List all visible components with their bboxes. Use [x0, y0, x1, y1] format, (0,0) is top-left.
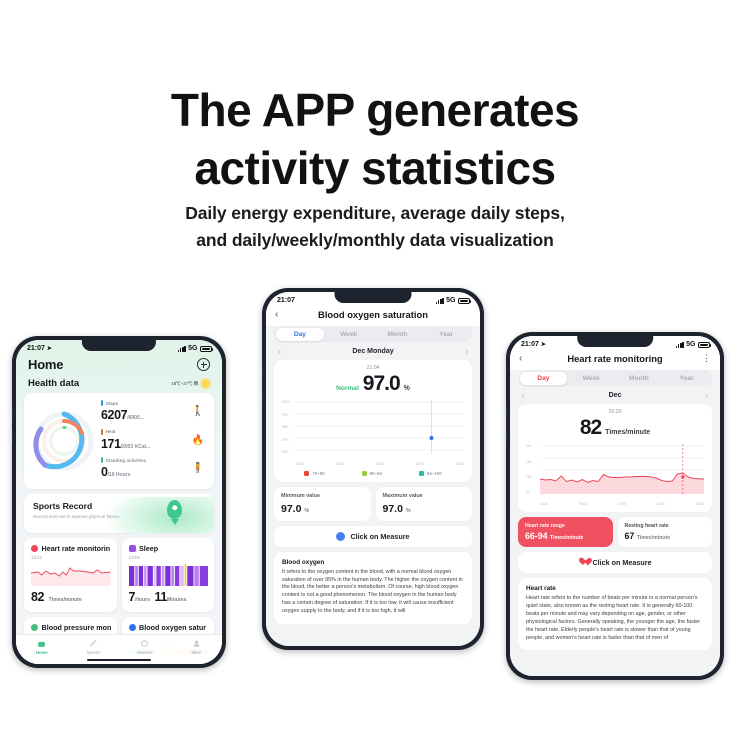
- hr-xtick-2: 12:00: [618, 502, 626, 506]
- spo2-chart-card: 21:04 Normal 97.0 % 100% 99% 98% 97% 96%: [274, 360, 472, 482]
- tile-heart-rate-title: Heart rate monitorin: [42, 544, 111, 553]
- heat-value: 171: [101, 437, 121, 451]
- standing-label: Standing activities: [106, 458, 147, 463]
- home-icon: [37, 639, 46, 648]
- maximum-label: Maximum value: [383, 493, 466, 500]
- heat-unit: /2003 KCal...: [121, 444, 150, 450]
- notch: [334, 292, 411, 303]
- sports-icon: [89, 639, 98, 648]
- spo2-circle-icon: [336, 532, 345, 541]
- phone-heart-rate-screen: 21:07 ➤ 5G ‹ Heart rate monitoring ⋮ Da: [506, 332, 724, 680]
- devices-icon: [140, 639, 149, 648]
- notch: [577, 336, 653, 347]
- spo2-ytick-0: 100%: [282, 400, 295, 404]
- date-navigator: ‹ Dec Monday ›: [266, 347, 480, 357]
- promo-page: The APP generates activity statistics Da…: [0, 0, 750, 750]
- tab-year[interactable]: Year: [663, 372, 711, 385]
- spo2-info-card: Blood oxygen It refers to the oxygen con…: [274, 552, 472, 624]
- metric-heat: Heat 171/2003 KCal... 🔥: [101, 429, 204, 453]
- signal-icon: [676, 342, 684, 348]
- measurement-time: 21:04: [282, 365, 464, 371]
- spo2-ytick-2: 98%: [282, 425, 295, 429]
- hr-xtick-0: 00:00: [540, 502, 548, 506]
- phone-blood-oxygen-screen: 21:07 5G ‹ Blood oxygen saturation Day W…: [262, 288, 484, 650]
- spo2-icon: [129, 624, 136, 631]
- maximum-value: 97.0: [383, 503, 403, 515]
- hr-area-chart: 200 150 100 50: [526, 444, 704, 506]
- legend-swatch-mid: [362, 471, 367, 476]
- sleep-bar-chart: [129, 564, 209, 586]
- tab-month[interactable]: Month: [373, 328, 422, 341]
- spo2-xtick-2: 12:00: [376, 462, 384, 466]
- legend-label-low: 70~90: [312, 471, 324, 476]
- tab-mine-label: Mine: [191, 650, 201, 655]
- legend-swatch-low: [304, 471, 309, 476]
- legend-item-low: 70~90: [304, 471, 324, 476]
- nav-bar: ‹ Heart rate monitoring ⋮: [510, 350, 720, 370]
- spo2-y-axis: 100% 99% 98% 97% 96%: [282, 400, 295, 454]
- hr-ytick-0: 200: [526, 444, 539, 448]
- resting-heart-rate-label: Resting heart rate: [625, 523, 706, 529]
- subtitle: Daily energy expenditure, average daily …: [0, 200, 750, 254]
- phone-home-screen: 21:07 ➤ 5G Home Health data: [12, 336, 226, 668]
- hr-info-card: Heart rate Heart rate refers to the numb…: [518, 578, 712, 650]
- weather-text: 18℃~27℃ 晴: [171, 381, 198, 387]
- steps-unit: /6000...: [127, 415, 144, 421]
- tile-heart-rate-date: 12/11: [31, 555, 111, 560]
- location-icon: ➤: [541, 341, 546, 348]
- location-icon: ➤: [47, 345, 52, 352]
- hr-x-axis: 00:00 06:00 12:00 18:00 24:00: [526, 501, 704, 506]
- tab-devices-label: Devices: [137, 650, 153, 655]
- health-data-heading: Health data: [28, 378, 79, 389]
- spo2-xtick-4: 24:00: [456, 462, 464, 466]
- maximum-unit: %: [406, 508, 411, 514]
- hr-chart-card: 20:20 82 Times/minute 200 150 100 50: [518, 404, 712, 512]
- nav-bar: ‹ Blood oxygen saturation: [266, 306, 480, 326]
- legend-swatch-high: [419, 471, 424, 476]
- tile-heart-rate-value: 82: [31, 590, 44, 604]
- sun-icon: [201, 379, 210, 388]
- tab-year[interactable]: Year: [422, 328, 471, 341]
- heart-icon: [578, 558, 587, 567]
- screen-title: Blood oxygen saturation: [287, 309, 459, 320]
- period-tabs: Day Week Month Year: [274, 326, 472, 342]
- battery-icon: [200, 346, 212, 352]
- spo2-x-axis: 00:00 06:00 12:00 18:00 24:00: [282, 461, 464, 466]
- health-tiles-row-1: Heart rate monitorin 12/11 82 Times/minu…: [24, 538, 214, 612]
- map-pin-icon: [167, 500, 182, 519]
- heart-rate-range-unit: Times/minute: [550, 535, 583, 541]
- tile-heart-rate-unit: Times/minute: [49, 597, 82, 603]
- battery-icon: [458, 298, 470, 304]
- page-title: The APP generates activity statistics: [0, 82, 750, 198]
- prev-date-icon[interactable]: ‹: [278, 347, 281, 356]
- spo2-legend: 70~90 90~94 94~100: [282, 466, 464, 476]
- legend-label-mid: 90~94: [370, 471, 382, 476]
- minimum-label: Minimum value: [281, 493, 364, 500]
- volume-down-button[interactable]: [262, 386, 263, 403]
- flame-icon: 🔥: [192, 436, 204, 446]
- legend-item-high: 94~100: [419, 471, 442, 476]
- tab-devices[interactable]: Devices: [119, 639, 171, 655]
- tab-month[interactable]: Month: [615, 372, 663, 385]
- period-tabs: Day Week Month Year: [518, 370, 712, 386]
- spo2-value: 97.0: [363, 372, 400, 396]
- min-max-row: Minimum value 97.0 % Maximum value 97.0 …: [274, 487, 472, 520]
- hr-value: 82: [580, 416, 601, 440]
- network-label: 5G: [446, 297, 455, 304]
- minimum-value: 97.0: [281, 503, 301, 515]
- hr-xtick-1: 06:00: [579, 502, 587, 506]
- hr-ytick-2: 100: [526, 475, 539, 479]
- tab-home[interactable]: Home: [16, 639, 68, 655]
- date-navigator: ‹ Dec ›: [510, 391, 720, 401]
- hr-y-axis: 200 150 100 50: [526, 444, 539, 494]
- heart-rate-sparkline: [31, 564, 111, 586]
- spo2-ytick-1: 99%: [282, 413, 295, 417]
- measure-button-label: Click on Measure: [350, 532, 409, 541]
- route-map-decoration: [110, 497, 214, 533]
- subtitle-line-1: Daily energy expenditure, average daily …: [0, 200, 750, 227]
- heart-rate-range-card: Heart rate range 66-94 Times/minute: [518, 517, 613, 547]
- tab-day[interactable]: Day: [520, 372, 568, 385]
- battery-icon: [698, 342, 710, 348]
- volume-down-button[interactable]: [506, 427, 507, 444]
- status-time: 21:07: [277, 297, 295, 304]
- tab-week[interactable]: Week: [324, 328, 373, 341]
- maximum-value-card: Maximum value 97.0 %: [376, 487, 473, 520]
- metric-standing: Standing activities 0/10 Hours 🧍: [101, 457, 204, 481]
- tab-week[interactable]: Week: [567, 372, 615, 385]
- metric-steps: Steps 6207/6000... 🚶: [101, 400, 204, 424]
- tile-sleep-title: Sleep: [139, 544, 158, 553]
- hr-unit: Times/minute: [605, 429, 650, 436]
- signal-icon: [178, 346, 186, 352]
- minimum-unit: %: [304, 508, 309, 514]
- tab-home-label: Home: [36, 650, 48, 655]
- signal-icon: [436, 298, 444, 304]
- hr-xtick-4: 24:00: [696, 502, 704, 506]
- tile-sleep-date: 12/09: [129, 555, 209, 560]
- volume-up-button[interactable]: [262, 362, 263, 379]
- tile-blood-oxygen-title: Blood oxygen satur: [139, 623, 206, 632]
- network-label: 5G: [686, 341, 695, 348]
- info-text: It refers to the oxygen content in the b…: [282, 569, 464, 616]
- hr-ytick-3: 50: [526, 490, 539, 494]
- info-title: Blood oxygen: [282, 559, 464, 566]
- spo2-ytick-3: 97%: [282, 438, 295, 442]
- tab-day[interactable]: Day: [276, 328, 325, 341]
- screen-title: Heart rate monitoring: [531, 353, 699, 364]
- status-badge: Normal: [336, 385, 359, 392]
- tile-sleep[interactable]: Sleep 12/09: [122, 538, 215, 612]
- info-text: Heart rate refers to the number of beats…: [526, 595, 704, 642]
- volume-up-button[interactable]: [12, 406, 13, 422]
- legend-item-mid: 90~94: [362, 471, 382, 476]
- measure-button-label: Click on Measure: [592, 558, 651, 567]
- measure-button[interactable]: Click on Measure: [274, 526, 472, 547]
- tab-sports[interactable]: Sports: [68, 639, 120, 655]
- plus-circle-icon[interactable]: [197, 358, 210, 371]
- resting-heart-rate-value: 67: [625, 531, 635, 541]
- headline-line-1: The APP generates: [0, 82, 750, 140]
- spo2-ytick-4: 96%: [282, 450, 295, 454]
- person-icon: [192, 639, 201, 648]
- prev-date-icon[interactable]: ‹: [522, 391, 525, 400]
- tile-sleep-hours-unit: Hours: [135, 597, 150, 603]
- bp-icon: [31, 624, 38, 631]
- notch: [82, 340, 156, 351]
- health-summary-card[interactable]: Steps 6207/6000... 🚶 Heat 171/2003 KCal.…: [24, 393, 214, 489]
- spo2-xtick-1: 06:00: [336, 462, 344, 466]
- heart-rate-range-value: 66-94: [525, 531, 548, 541]
- walk-icon: 🚶: [192, 407, 204, 417]
- volume-up-button[interactable]: [506, 404, 507, 421]
- status-time: 21:07: [27, 345, 45, 352]
- current-date: Dec: [609, 392, 622, 399]
- next-date-icon[interactable]: ›: [465, 347, 468, 356]
- headline-line-2: activity statistics: [0, 140, 750, 198]
- measure-button[interactable]: Click on Measure: [518, 552, 712, 573]
- spo2-unit: %: [404, 385, 410, 392]
- network-label: 5G: [188, 345, 197, 352]
- activity-rings: [32, 409, 96, 473]
- legend-label-high: 94~100: [427, 471, 442, 476]
- tab-mine[interactable]: Mine: [171, 639, 223, 655]
- hr-xtick-3: 18:00: [657, 502, 665, 506]
- sports-record-card[interactable]: Sports Record Record exercise to improve…: [24, 494, 214, 533]
- heat-tick-icon: [101, 429, 103, 435]
- status-time: 21:07: [521, 341, 539, 348]
- weather-widget: 18℃~27℃ 晴: [171, 379, 210, 388]
- current-date: Dec Monday: [352, 348, 393, 355]
- volume-down-button[interactable]: [12, 428, 13, 444]
- moon-icon: [129, 545, 136, 552]
- tile-heart-rate[interactable]: Heart rate monitorin 12/11 82 Times/minu…: [24, 538, 117, 612]
- spo2-xtick-3: 18:00: [416, 462, 424, 466]
- subtitle-line-2: and daily/weekly/monthly data visualizat…: [0, 227, 750, 254]
- tile-sleep-minutes-unit: Minutes: [167, 597, 187, 603]
- steps-value: 6207: [101, 408, 127, 422]
- home-title: Home: [28, 357, 63, 372]
- chevron-left-icon[interactable]: ‹: [519, 353, 531, 364]
- hr-ytick-1: 150: [526, 460, 539, 464]
- heat-label: Heat: [106, 429, 116, 434]
- hr-stats-row: Heart rate range 66-94 Times/minute Rest…: [518, 517, 712, 547]
- tab-sports-label: Sports: [87, 650, 100, 655]
- spo2-line-chart: 100% 99% 98% 97% 96%: [282, 400, 464, 466]
- spo2-xtick-0: 00:00: [296, 462, 304, 466]
- info-title: Heart rate: [526, 585, 704, 592]
- next-date-icon[interactable]: ›: [705, 391, 708, 400]
- stand-icon: 🧍: [192, 464, 204, 474]
- minimum-value-card: Minimum value 97.0 %: [274, 487, 371, 520]
- resting-heart-rate-card: Resting heart rate 67 Times/minute: [618, 517, 713, 547]
- resting-heart-rate-unit: Times/minute: [637, 535, 670, 541]
- chevron-left-icon[interactable]: ‹: [275, 309, 287, 320]
- measurement-time: 20:20: [526, 409, 704, 415]
- standing-unit: /10 Hours: [108, 472, 131, 478]
- steps-label: Steps: [106, 401, 119, 406]
- heart-rate-range-label: Heart rate range: [525, 523, 606, 529]
- tile-sleep-minutes: 11: [155, 590, 167, 604]
- heart-icon: [31, 545, 38, 552]
- more-vertical-icon[interactable]: ⋮: [699, 353, 711, 364]
- tile-blood-pressure-title: Blood pressure mon: [42, 623, 111, 632]
